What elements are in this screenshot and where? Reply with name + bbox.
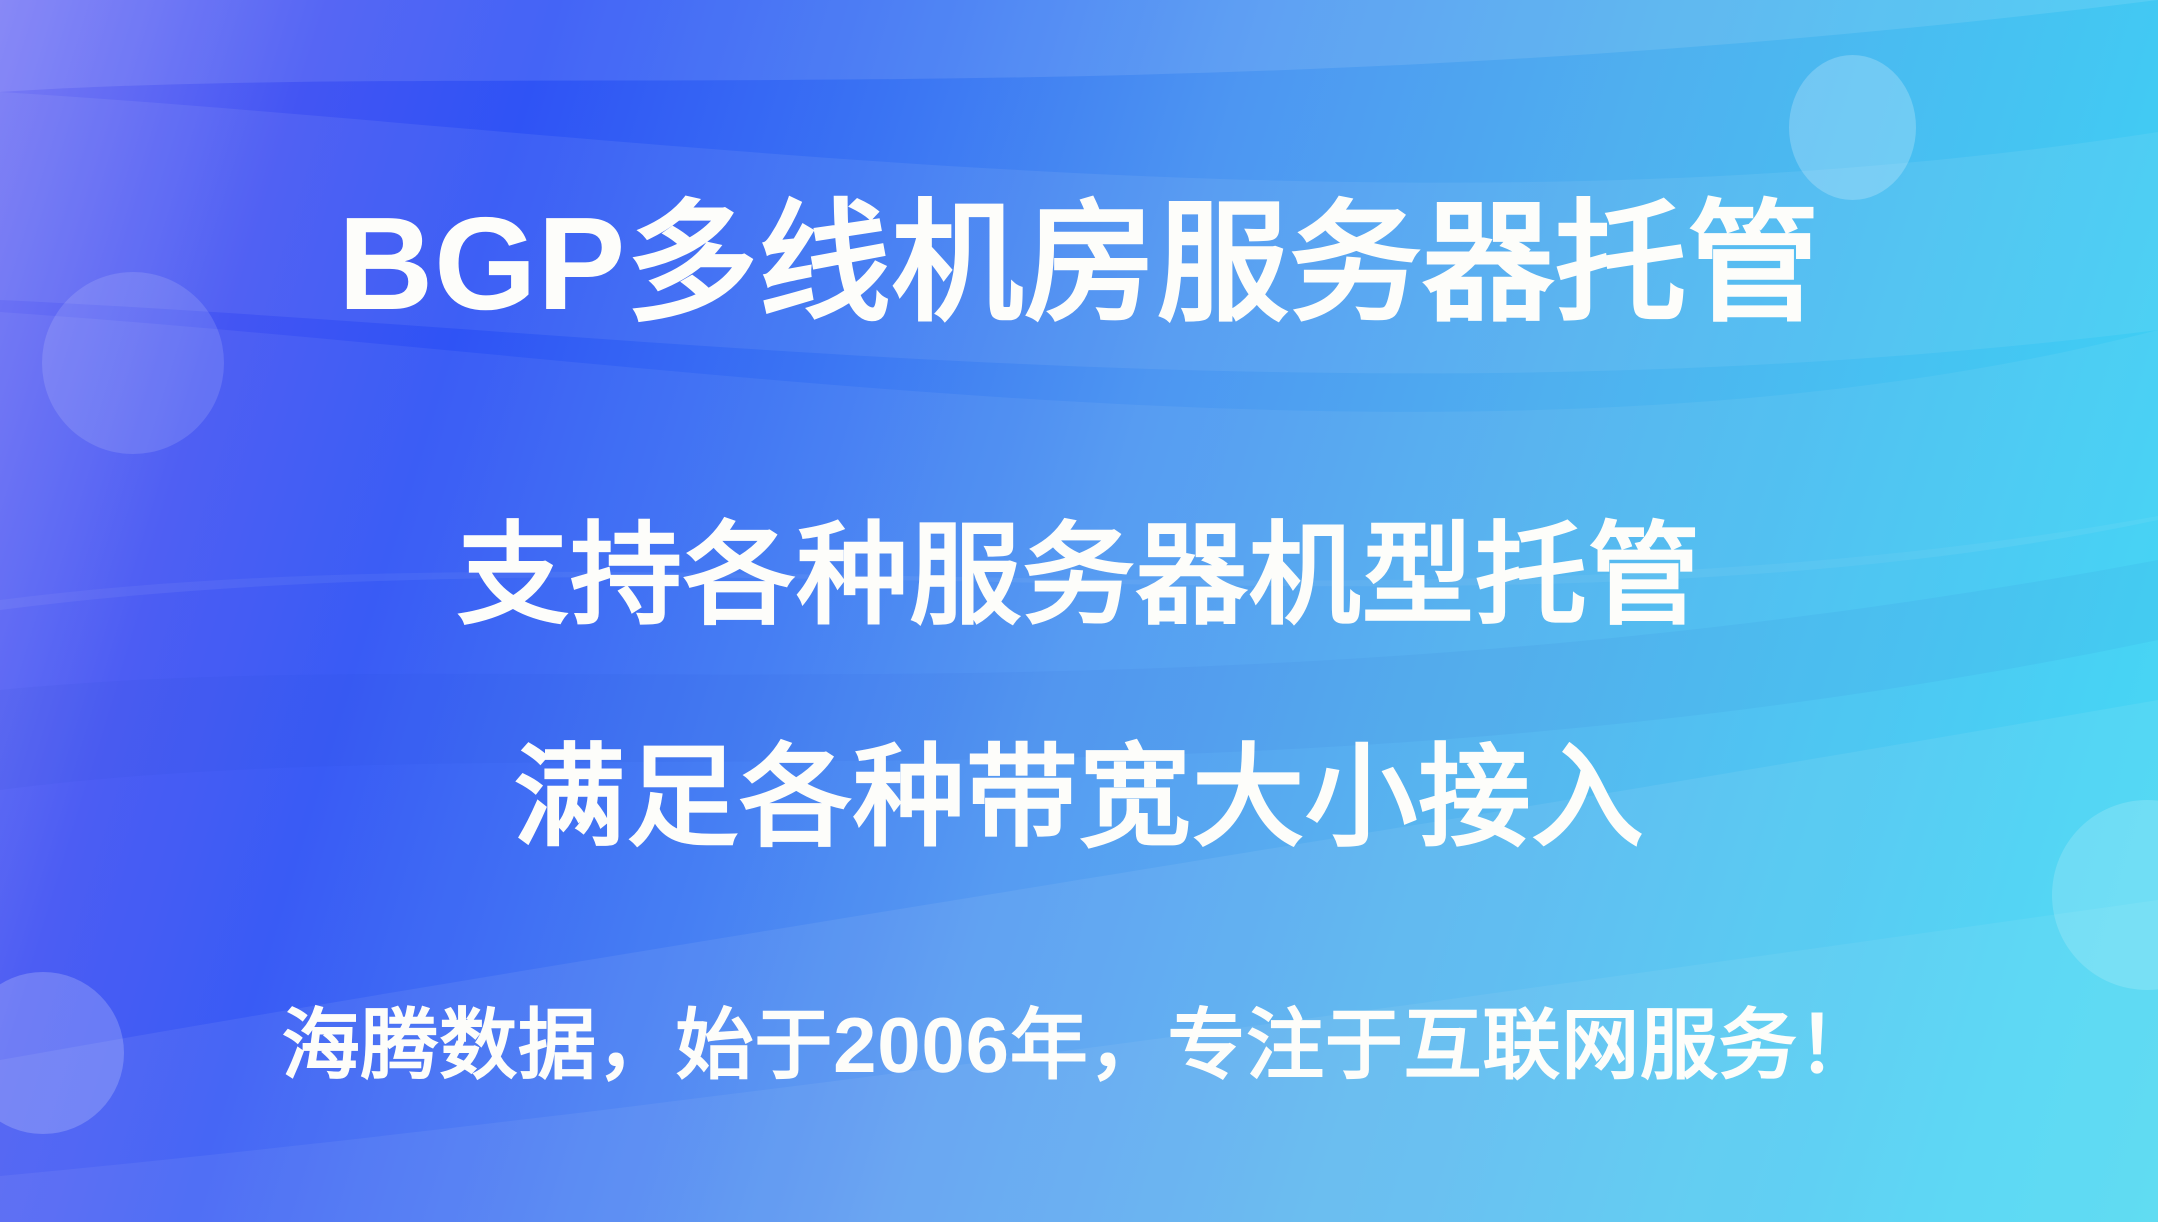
banner-content: BGP多线机房服务器托管 支持各种服务器机型托管 满足各种带宽大小接入 海腾数据… [0,0,2158,1222]
banner-title: BGP多线机房服务器托管 [0,198,2158,330]
promo-banner: BGP多线机房服务器托管 支持各种服务器机型托管 满足各种带宽大小接入 海腾数据… [0,0,2158,1222]
banner-subtitle-line-2: 满足各种带宽大小接入 [0,742,2158,854]
banner-tagline: 海腾数据，始于2006年，专注于互联网服务！ [0,1006,2158,1084]
banner-subtitle-line-1: 支持各种服务器机型托管 [0,520,2158,632]
